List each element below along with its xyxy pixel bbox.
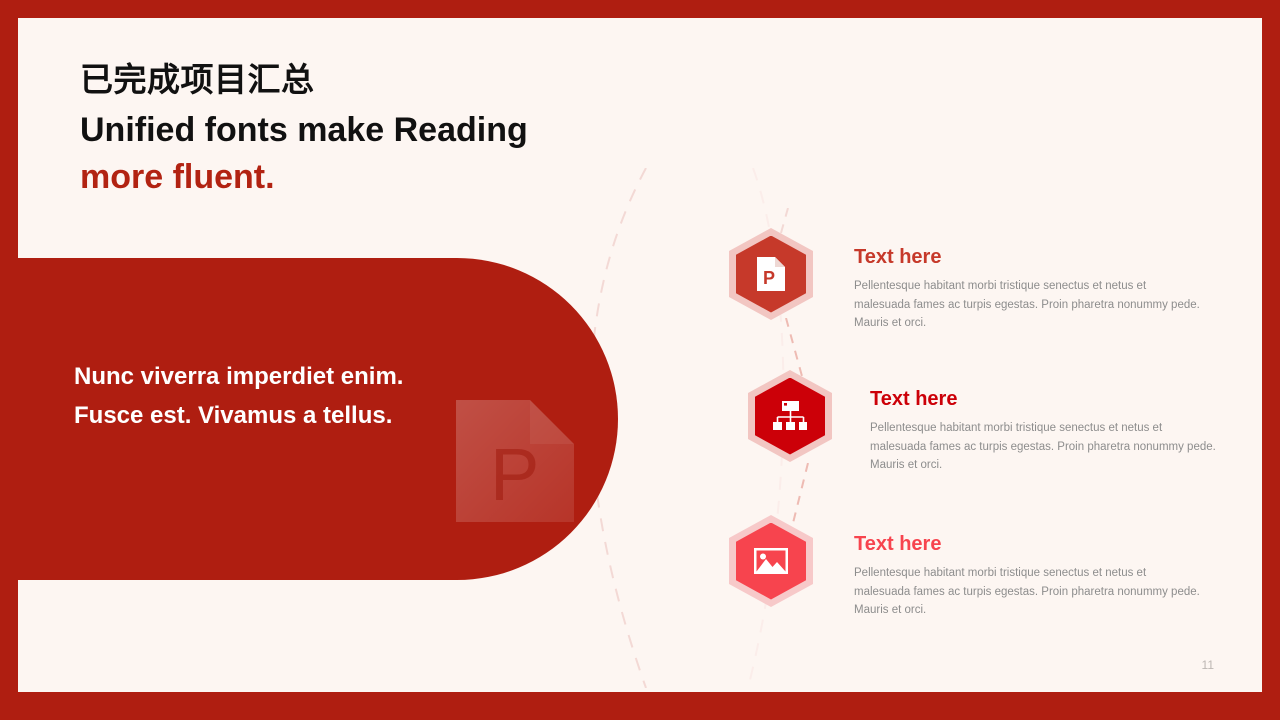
item-title-2: Text here [870, 388, 1220, 410]
item-text-3: Text here Pellentesque habitant morbi tr… [854, 533, 1204, 620]
item-body-2: Pellentesque habitant morbi tristique se… [870, 419, 1220, 475]
hex-badge-2[interactable] [748, 370, 832, 462]
image-photo-icon [729, 515, 813, 607]
item-body-1: Pellentesque habitant morbi tristique se… [854, 277, 1204, 333]
hex-badge-1[interactable]: P [729, 228, 813, 320]
item-body-3: Pellentesque habitant morbi tristique se… [854, 564, 1204, 620]
powerpoint-document-icon: P [729, 228, 813, 320]
item-title-3: Text here [854, 533, 1204, 555]
slide-canvas: 已完成项目汇总 Unified fonts make Reading more … [18, 18, 1262, 692]
hex-badge-3[interactable] [729, 515, 813, 607]
page-number: 11 [1202, 658, 1214, 672]
item-title-1: Text here [854, 246, 1204, 268]
left-panel-text: Nunc viverra imperdiet enim. Fusce est. … [74, 358, 444, 436]
svg-text:P: P [763, 268, 775, 288]
powerpoint-document-watermark-icon: P [456, 400, 574, 522]
svg-text:P: P [490, 433, 539, 516]
page-title: 已完成项目汇总 Unified fonts make Reading more … [80, 58, 780, 200]
title-line-accent: more fluent. [80, 155, 780, 200]
org-chart-icon [748, 370, 832, 462]
title-line-chinese: 已完成项目汇总 [80, 58, 780, 102]
item-text-1: Text here Pellentesque habitant morbi tr… [854, 246, 1204, 333]
item-text-2: Text here Pellentesque habitant morbi tr… [870, 388, 1220, 475]
title-line-english: Unified fonts make Reading [80, 108, 780, 153]
left-red-panel: P Nunc viverra imperdiet enim. Fusce est… [18, 258, 618, 580]
